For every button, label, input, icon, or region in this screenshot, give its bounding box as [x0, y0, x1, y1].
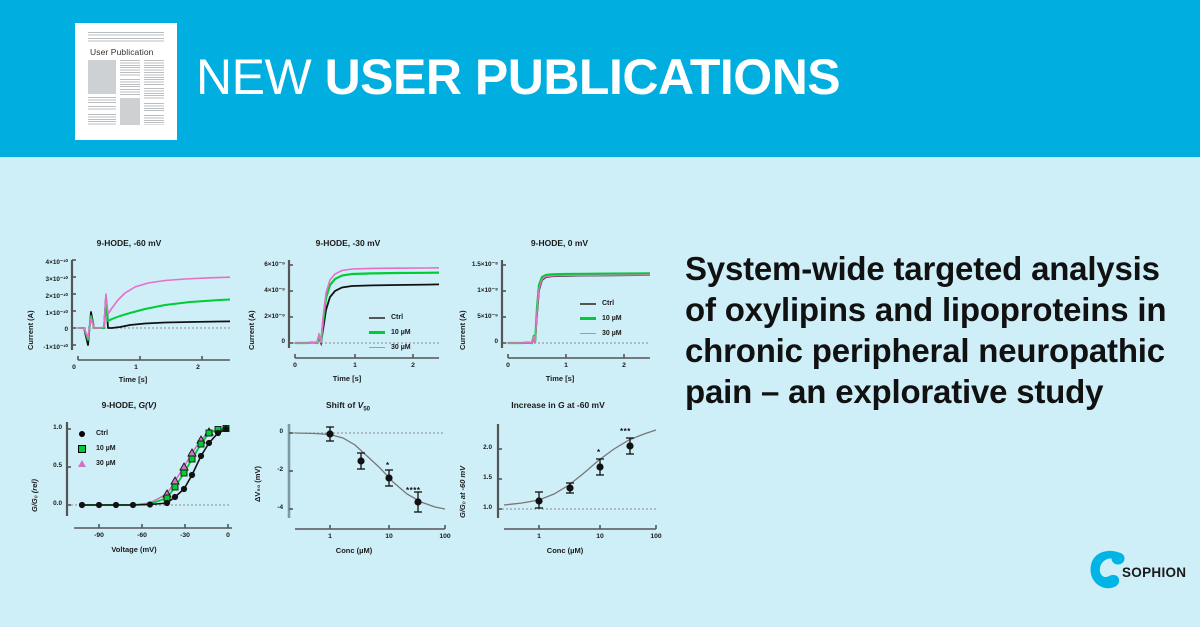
- y-tick: 0.5: [38, 462, 62, 469]
- x-tick: 1: [529, 533, 549, 540]
- page-header: User Publication NEW USER PUBLICATIONS: [0, 0, 1200, 157]
- x-tick: 1: [320, 533, 340, 540]
- y-tick: 2.0: [468, 444, 492, 451]
- chart-title: 9-HODE, -60 mV: [18, 238, 240, 248]
- chart-plot-area: [287, 252, 447, 367]
- legend-label: 30 µM: [602, 330, 622, 337]
- header-title-light: NEW: [196, 49, 311, 105]
- y-tick: -1×10⁻¹⁰: [22, 343, 68, 351]
- x-axis-label: Voltage (mV): [48, 545, 220, 554]
- legend-item: 30 µM: [580, 328, 622, 339]
- sophion-logo-text: SOPHION: [1122, 565, 1186, 580]
- x-tick: 1: [558, 362, 574, 369]
- x-axis-label: Time [s]: [48, 375, 218, 384]
- newspaper-icon-caption: User Publication: [90, 47, 170, 57]
- x-tick: 2: [616, 362, 632, 369]
- chart-legend: Ctrl 10 µM 30 µM: [74, 428, 116, 473]
- chart-title: Shift of V50: [243, 400, 453, 413]
- chart-trace-minus60: 9-HODE, -60 mV Current (A) 4×10⁻¹⁰ 3×10⁻…: [18, 238, 240, 393]
- chart-trace-zero: 9-HODE, 0 mV Current (A) 1.5×10⁻⁸ 1×10⁻⁸…: [452, 238, 667, 393]
- y-tick: 1.5×10⁻⁸: [452, 260, 498, 268]
- y-tick: 1×10⁻¹⁰: [26, 309, 68, 317]
- significance-marker: ****: [406, 486, 420, 495]
- y-tick: 6×10⁻⁹: [247, 260, 285, 268]
- significance-marker: *: [597, 448, 601, 457]
- header-title: NEW USER PUBLICATIONS: [196, 48, 840, 106]
- figure-panel: 9-HODE, -60 mV Current (A) 4×10⁻¹⁰ 3×10⁻…: [18, 238, 678, 578]
- publication-title: System-wide targeted analysis of oxylipi…: [685, 248, 1175, 412]
- chart-plot-area: [70, 252, 240, 367]
- legend-item: Ctrl: [74, 428, 116, 439]
- x-tick: -30: [175, 532, 195, 539]
- legend-swatch: [580, 317, 596, 320]
- chart-trace-minus30: 9-HODE, -30 mV Current (A) 6×10⁻⁹ 4×10⁻⁹…: [243, 238, 453, 393]
- y-tick: 0: [452, 338, 498, 345]
- legend-label: 10 µM: [96, 445, 116, 452]
- legend-item: 30 µM: [74, 458, 116, 469]
- legend-label: Ctrl: [391, 314, 403, 321]
- legend-item: Ctrl: [369, 312, 411, 323]
- y-tick: 0: [261, 428, 283, 435]
- legend-swatch: [369, 317, 385, 319]
- y-tick: 0: [247, 338, 285, 345]
- y-tick: 0: [26, 326, 68, 333]
- chart-gv-curve: 9-HODE, G(V) G/G₀ (rel) 1.0 0.5 0.0: [18, 400, 240, 568]
- y-tick: 1×10⁻⁸: [452, 286, 498, 294]
- y-tick: 2×10⁻¹⁰: [26, 292, 68, 300]
- x-tick: -60: [132, 532, 152, 539]
- x-tick: 1: [128, 364, 144, 371]
- sophion-logo: SOPHION: [1086, 548, 1190, 592]
- legend-swatch: [74, 460, 90, 467]
- chart-plot-area: [285, 416, 451, 541]
- chart-legend: Ctrl 10 µM 30 µM: [580, 298, 622, 343]
- chart-title-italic: G: [558, 400, 565, 410]
- legend-label: 30 µM: [391, 344, 411, 351]
- legend-label: 30 µM: [96, 460, 116, 467]
- x-tick: 10: [379, 533, 399, 540]
- y-tick: 2×10⁻⁹: [247, 312, 285, 320]
- x-axis-label: Conc (µM): [480, 546, 650, 555]
- y-tick: 1.0: [468, 504, 492, 511]
- legend-item: 10 µM: [580, 313, 622, 324]
- chart-title-text: Shift of: [326, 400, 358, 410]
- chart-title: 9-HODE, -30 mV: [243, 238, 453, 248]
- y-tick: -2: [261, 466, 283, 473]
- legend-swatch: [369, 347, 385, 349]
- significance-marker: ***: [620, 427, 631, 436]
- x-tick: 10: [590, 533, 610, 540]
- y-tick: 5×10⁻⁹: [452, 312, 498, 320]
- legend-swatch: [74, 445, 90, 453]
- x-axis-label: Conc (µM): [271, 546, 437, 555]
- chart-title: Increase in G at -60 mV: [448, 400, 668, 410]
- legend-item: 10 µM: [369, 327, 411, 338]
- y-tick: 4×10⁻¹⁰: [26, 258, 68, 266]
- x-tick: 0: [218, 532, 238, 539]
- x-axis-label: Time [s]: [267, 374, 427, 383]
- x-axis-label: Time [s]: [480, 374, 640, 383]
- x-tick: 100: [646, 533, 666, 540]
- newspaper-icon: User Publication: [76, 24, 176, 139]
- legend-swatch: [580, 303, 596, 305]
- chart-title: 9-HODE, G(V): [18, 400, 240, 410]
- legend-label: Ctrl: [96, 430, 108, 437]
- y-tick: -4: [261, 504, 283, 511]
- x-tick: 0: [287, 362, 303, 369]
- chart-title-text: 9-HODE,: [102, 400, 139, 410]
- y-tick: 4×10⁻⁹: [247, 286, 285, 294]
- chart-title-text: Increase in: [511, 400, 558, 410]
- y-tick: 0.0: [38, 500, 62, 507]
- legend-item: 10 µM: [74, 443, 116, 454]
- y-axis-label: G/G₀ at -60 mV: [458, 466, 467, 518]
- legend-label: 10 µM: [391, 329, 411, 336]
- legend-label: 10 µM: [602, 315, 622, 322]
- legend-swatch: [580, 333, 596, 335]
- x-tick: 0: [66, 364, 82, 371]
- legend-swatch: [369, 331, 385, 334]
- y-tick: 1.5: [468, 474, 492, 481]
- chart-increase-g: Increase in G at -60 mV G/G₀ at -60 mV 2…: [448, 400, 668, 568]
- x-tick: 2: [405, 362, 421, 369]
- chart-title: 9-HODE, 0 mV: [452, 238, 667, 248]
- chart-legend: Ctrl 10 µM 30 µM: [369, 312, 411, 357]
- y-tick: 1.0: [38, 424, 62, 431]
- chart-title-sub: 50: [363, 407, 370, 413]
- significance-marker: *: [386, 461, 390, 470]
- chart-plot-area: [494, 416, 664, 541]
- chart-shift-v50: Shift of V50 ΔV₅₀ (mV) 0 -2 -4: [243, 400, 453, 568]
- x-tick: 1: [347, 362, 363, 369]
- x-tick: 0: [500, 362, 516, 369]
- x-tick: -90: [89, 532, 109, 539]
- legend-swatch: [74, 431, 90, 437]
- y-tick: 3×10⁻¹⁰: [26, 275, 68, 283]
- legend-item: 30 µM: [369, 342, 411, 353]
- chart-title-rest: at -60 mV: [565, 400, 605, 410]
- legend-item: Ctrl: [580, 298, 622, 309]
- chart-title-italic: G(V): [138, 400, 156, 410]
- header-title-bold: USER PUBLICATIONS: [325, 49, 841, 105]
- x-tick: 2: [190, 364, 206, 371]
- y-axis-label: G/G₀ (rel): [30, 479, 39, 512]
- legend-label: Ctrl: [602, 300, 614, 307]
